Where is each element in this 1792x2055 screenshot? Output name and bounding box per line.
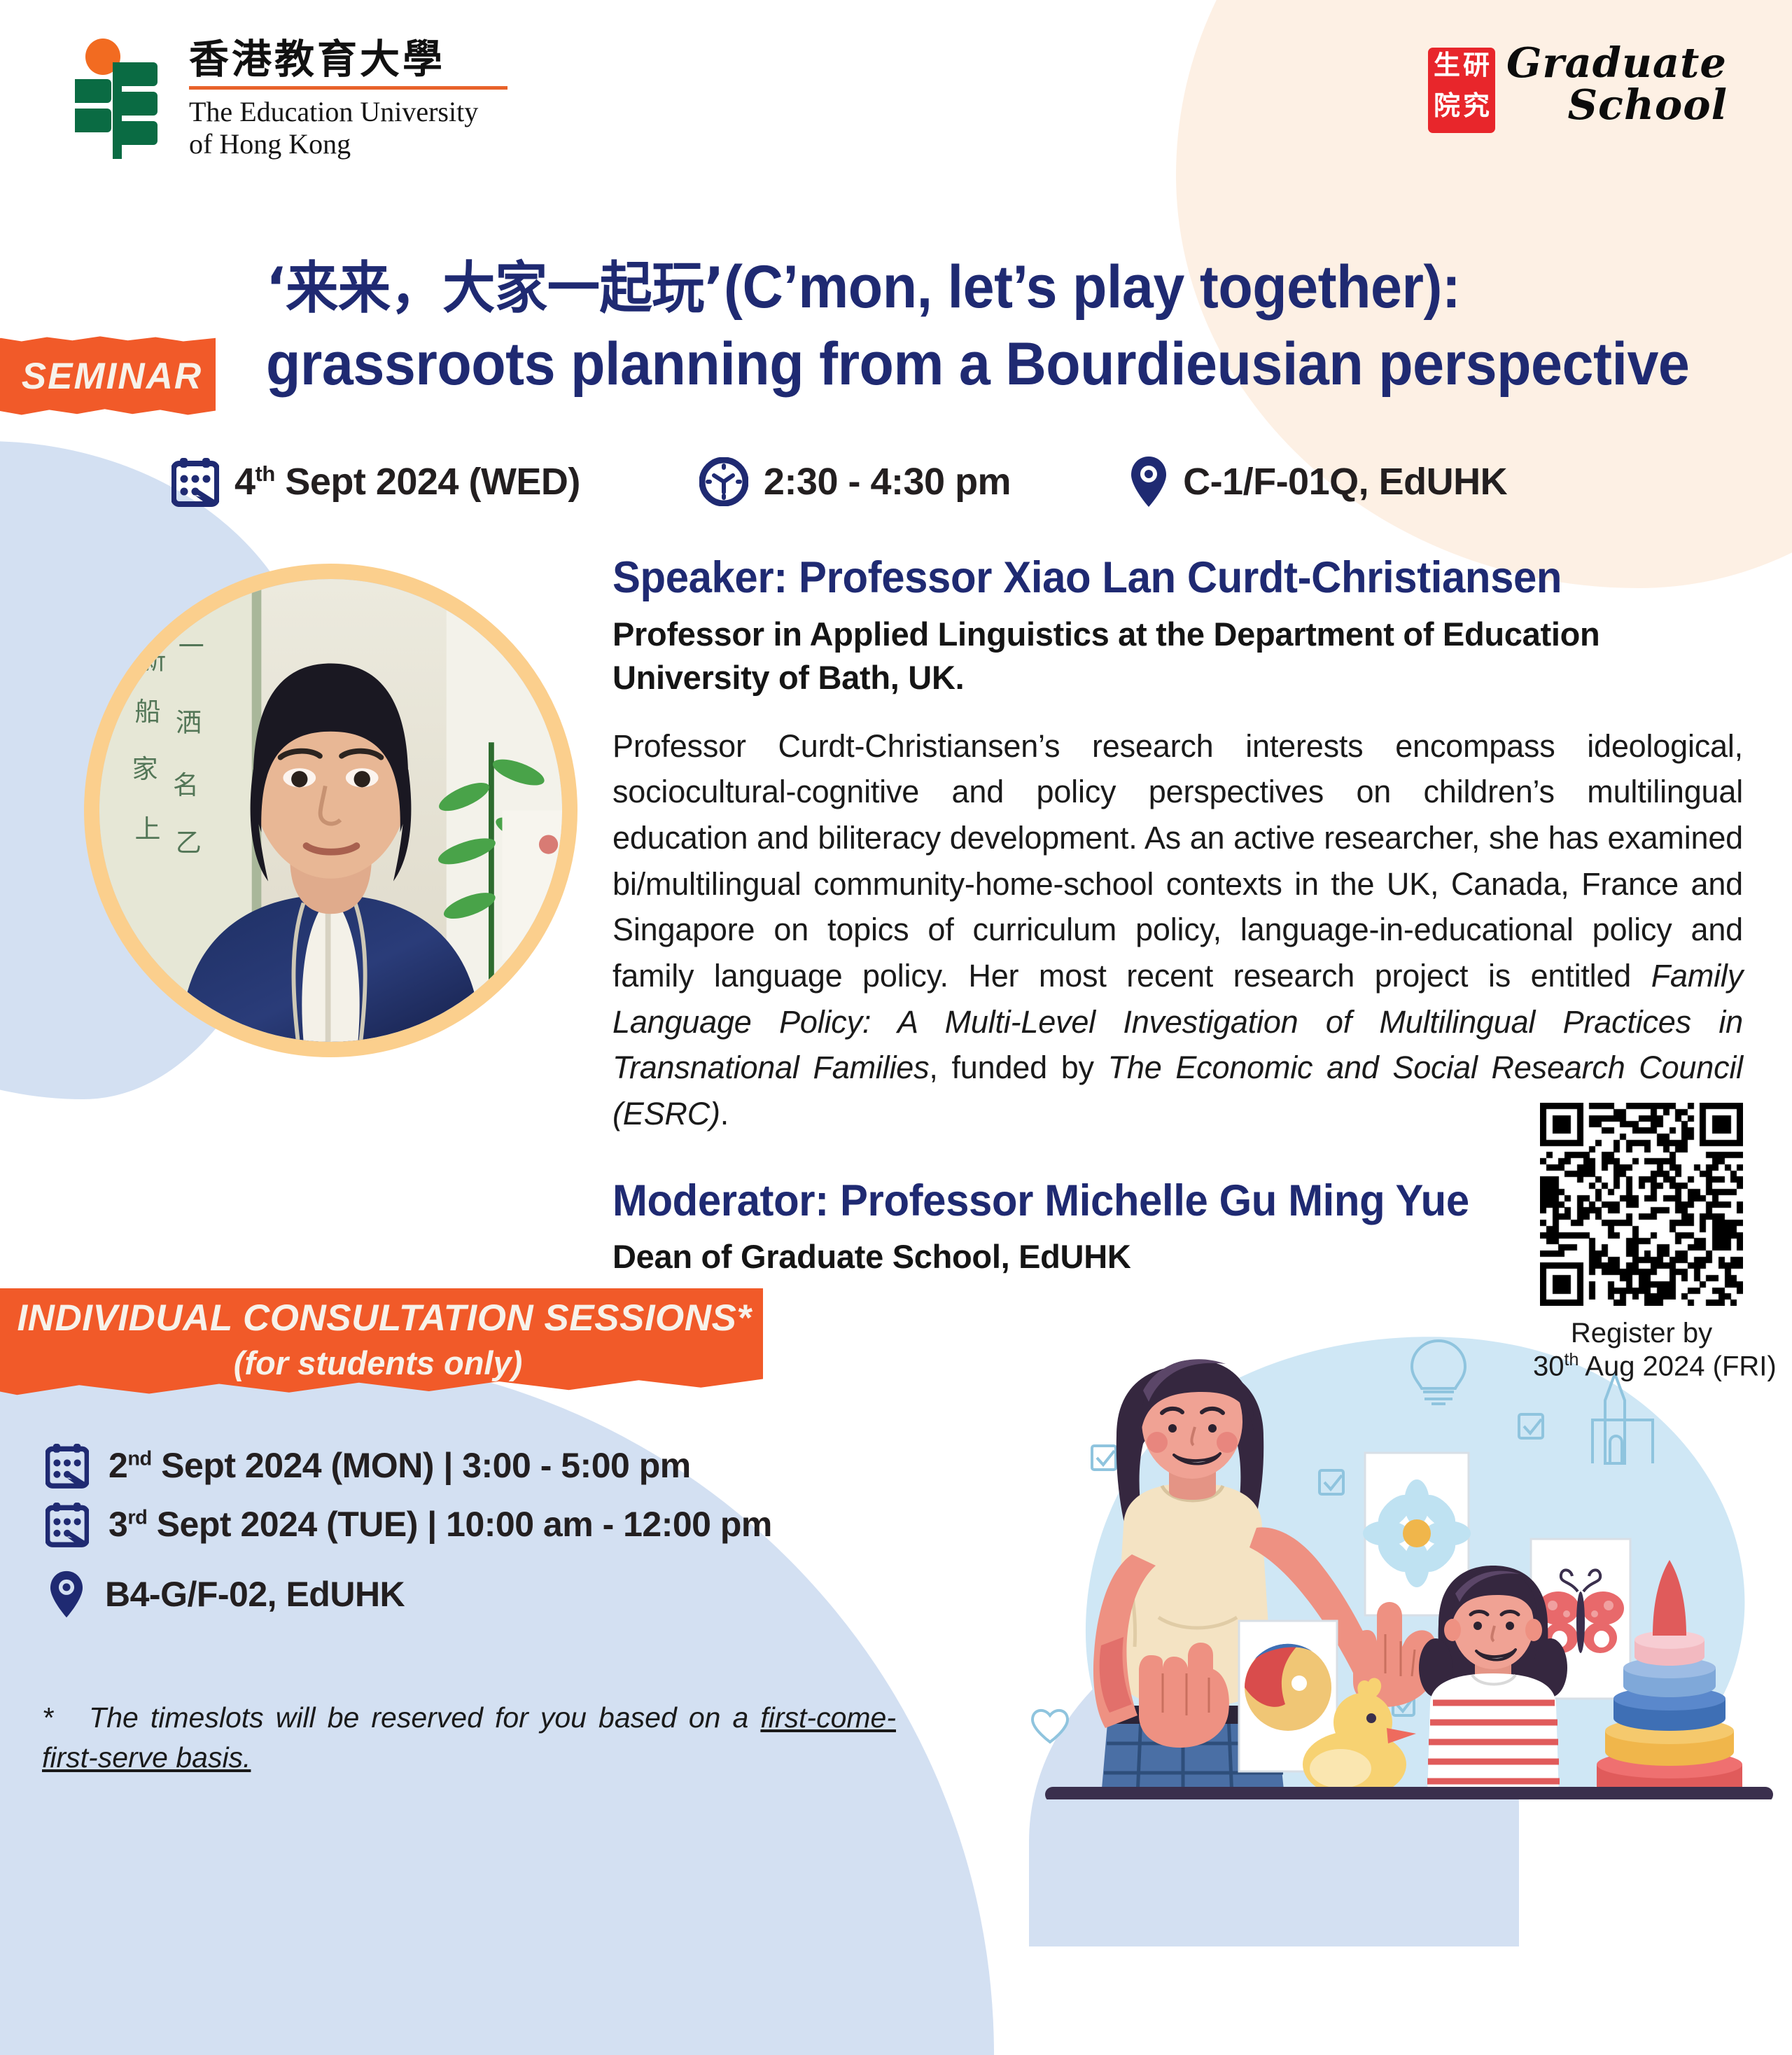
page-title: ‘来来，大家一起玩’(C’mon, let’s play together): …: [266, 249, 1736, 403]
graduate-school-seal-icon: 生 研 院 究: [1428, 48, 1495, 133]
consultation-sessions-list: 2nd Sept 2024 (MON) | 3:00 - 5:00 pm 3rd…: [45, 1442, 990, 1631]
svg-text:乙: 乙: [176, 828, 202, 858]
clock-icon: [699, 457, 748, 506]
seminar-badge-label: SEMINAR: [0, 355, 202, 398]
calendar-pencil-icon: [45, 1501, 89, 1547]
event-meta-row: 4th Sept 2024 (WED) 2:30 - 4:30 pm C-1/F…: [171, 448, 1711, 515]
event-venue: C-1/F-01Q, EdUHK: [1130, 455, 1507, 508]
eduhk-logo-english-line1: The Education University: [189, 96, 507, 128]
seal-char-2: 研: [1463, 52, 1490, 78]
consultation-footnote: * The timeslots will be reserved for you…: [42, 1698, 896, 1777]
speaker-portrait-image: 新一 船洒 家名 上乙: [99, 579, 562, 1042]
seal-char-1: 生: [1434, 52, 1460, 78]
consultation-venue-label: B4-G/F-02, EdUHK: [105, 1574, 405, 1615]
consultation-session-label: 2nd Sept 2024 (MON) | 3:00 - 5:00 pm: [108, 1445, 691, 1486]
qr-code-icon[interactable]: [1540, 1103, 1743, 1306]
title-chinese: ‘来来，大家一起玩’: [266, 256, 724, 321]
title-english-part: (C’mon, let’s play together):: [724, 253, 1460, 321]
registration-block: Register by 30th Aug 2024 (FRI): [1533, 1103, 1750, 1384]
footnote-text: The timeslots will be reserved for you b…: [89, 1701, 760, 1734]
svg-text:上: 上: [135, 814, 161, 844]
moderator-heading: Moderator: Professor Michelle Gu Ming Yu…: [612, 1176, 1686, 1226]
speaker-affiliation: Professor in Applied Linguistics at the …: [612, 613, 1743, 699]
bio-part-3: .: [720, 1096, 729, 1131]
eduhk-logo-english-line2: of Hong Kong: [189, 128, 507, 160]
event-time: 2:30 - 4:30 pm: [699, 457, 1011, 506]
svg-text:名: 名: [173, 770, 199, 800]
calendar-pencil-icon: [171, 457, 219, 507]
bio-part-1: Professor Curdt-Christiansen’s research …: [612, 728, 1743, 994]
event-date: 4th Sept 2024 (WED): [171, 457, 580, 507]
graduate-school-word-line2: School: [1506, 84, 1730, 126]
svg-text:船: 船: [135, 697, 161, 727]
registration-caption-line1: Register by: [1533, 1317, 1750, 1350]
svg-text:一: 一: [178, 632, 204, 662]
speaker-affiliation-line2: University of Bath, UK.: [612, 656, 1743, 699]
footnote-asterisk: *: [42, 1701, 53, 1734]
event-venue-label: C-1/F-01Q, EdUHK: [1183, 460, 1507, 503]
graduate-school-logo: 生 研 院 究 Graduate School: [1428, 42, 1729, 165]
graduate-school-word-line1: Graduate: [1506, 39, 1727, 87]
consultation-banner-line1: INDIVIDUAL CONSULTATION SESSIONS*: [17, 1297, 751, 1339]
consultation-banner-line2: (for students only): [234, 1344, 523, 1382]
registration-caption-line2: 30th Aug 2024 (FRI): [1533, 1350, 1750, 1384]
consultation-session-row: 2nd Sept 2024 (MON) | 3:00 - 5:00 pm: [45, 1442, 990, 1489]
svg-text:新: 新: [140, 645, 166, 675]
teacher-child-illustration: [1018, 1323, 1792, 1799]
consultation-session-label: 3rd Sept 2024 (TUE) | 10:00 am - 12:00 p…: [108, 1504, 772, 1545]
map-pin-icon: [1130, 455, 1168, 508]
calendar-pencil-icon: [45, 1442, 89, 1489]
map-pin-icon: [49, 1570, 84, 1619]
eduhk-logo: 香港教育大學 The Education University of Hong …: [66, 39, 514, 165]
speaker-bio: Professor Curdt-Christiansen’s research …: [612, 723, 1743, 1137]
speaker-affiliation-line1: Professor in Applied Linguistics at the …: [612, 613, 1743, 656]
event-date-label: 4th Sept 2024 (WED): [234, 460, 580, 503]
seminar-badge: SEMINAR: [0, 335, 216, 417]
title-line-2: grassroots planning from a Bourdieusian …: [266, 326, 1648, 403]
title-line-1: ‘来来，大家一起玩’(C’mon, let’s play together):: [266, 249, 1648, 326]
bio-part-2: , funded by: [929, 1050, 1107, 1085]
eduhk-logo-chinese: 香港教育大學: [189, 40, 507, 80]
eduhk-emblem-icon: [66, 39, 171, 161]
eduhk-logo-rule: [189, 86, 507, 90]
consultation-session-row: 3rd Sept 2024 (TUE) | 10:00 am - 12:00 p…: [45, 1501, 990, 1547]
seal-char-3: 院: [1434, 92, 1460, 119]
event-time-label: 2:30 - 4:30 pm: [764, 460, 1011, 503]
svg-text:洒: 洒: [176, 708, 202, 738]
registration-caption: Register by 30th Aug 2024 (FRI): [1533, 1317, 1750, 1384]
svg-text:家: 家: [132, 754, 158, 784]
consultation-venue: B4-G/F-02, EdUHK: [45, 1570, 990, 1619]
speaker-heading: Speaker: Professor Xiao Lan Curdt-Christ…: [612, 553, 1686, 603]
seal-char-4: 究: [1463, 92, 1490, 119]
speaker-photo: 新一 船洒 家名 上乙: [84, 564, 577, 1057]
